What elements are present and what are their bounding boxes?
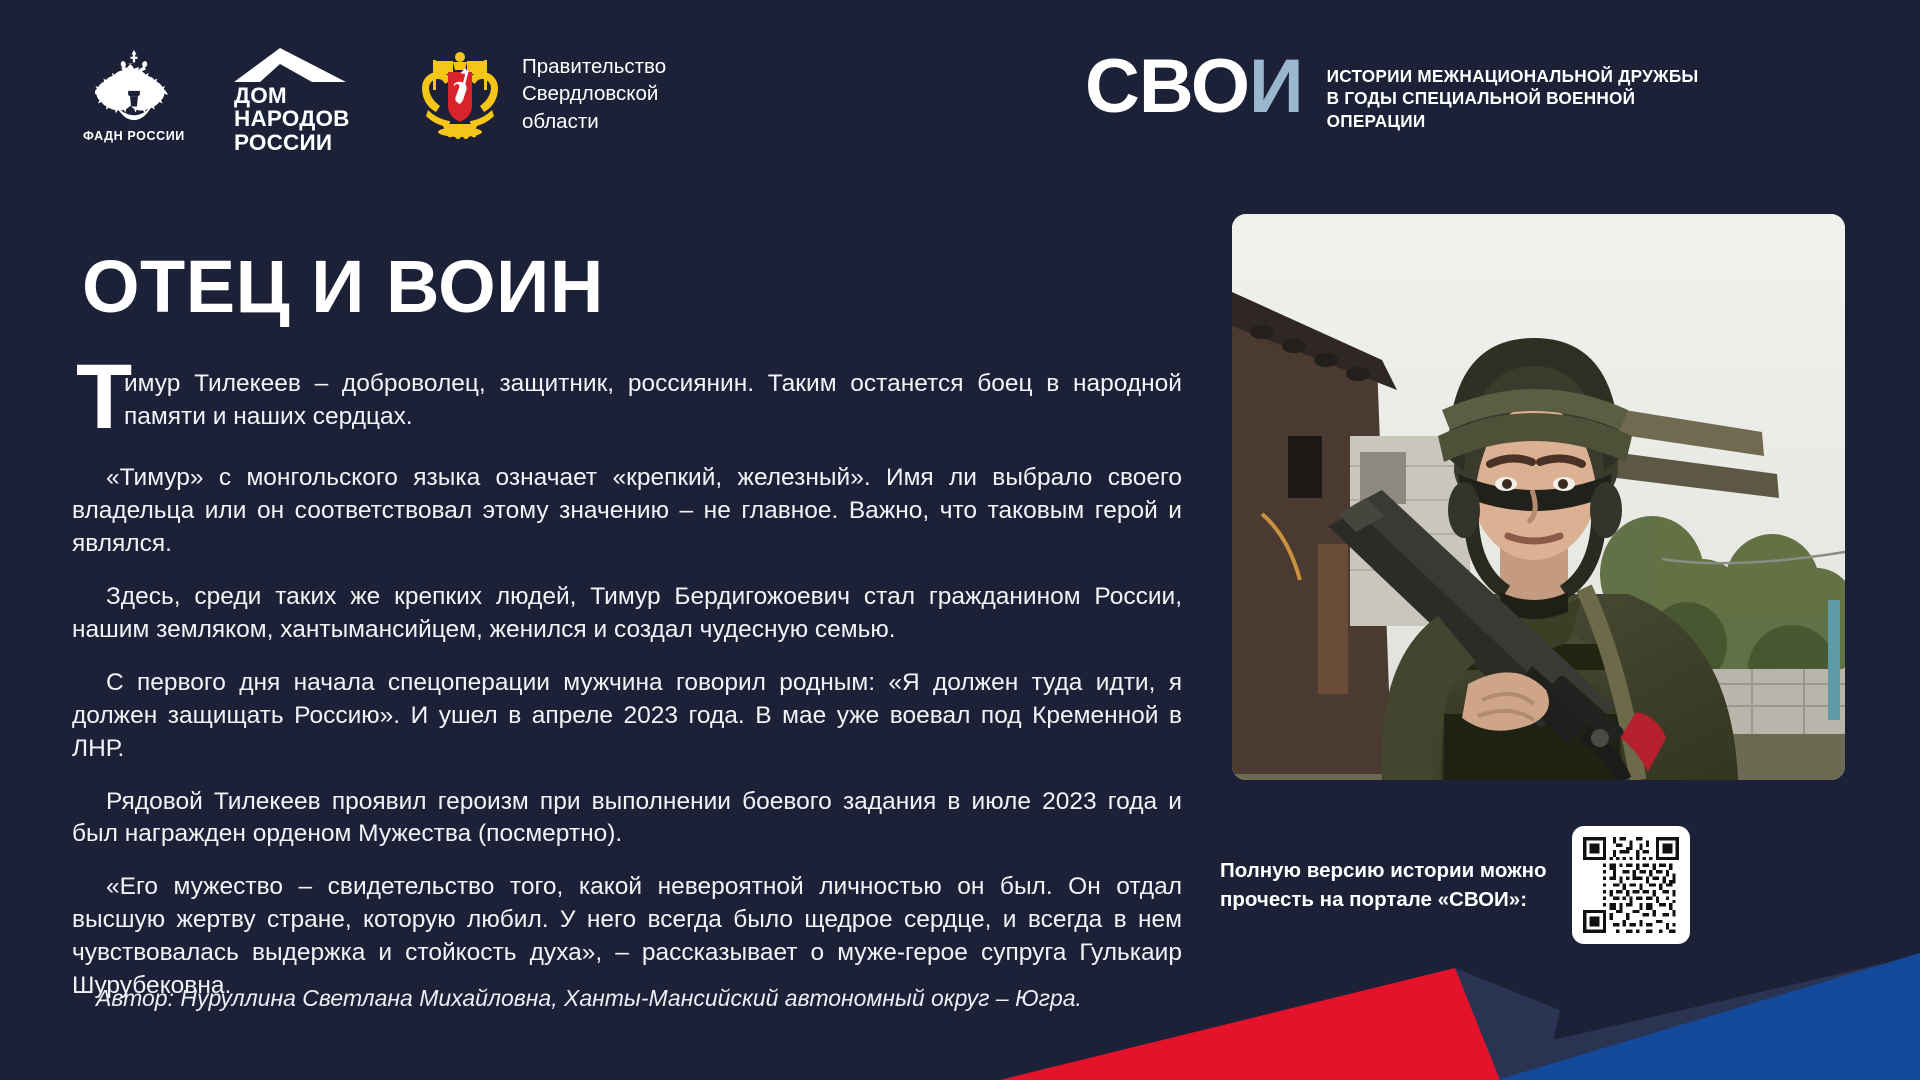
logo-sverdlovsk: Правительство Свердловской области [412, 48, 666, 140]
logo-dom-narodov: ДОМ НАРОДОВ РОССИИ [234, 48, 364, 154]
logo-dom-line3: РОССИИ [234, 131, 364, 154]
brand-tagline: ИСТОРИИ МЕЖНАЦИОНАЛЬНОЙ ДРУЖБЫ В ГОДЫ СП… [1327, 65, 1699, 132]
logo-fadn: ФАДН РОССИИ [78, 48, 190, 143]
brand-word-white: СВО [1085, 44, 1249, 129]
author-credit: Автор: Нуруллина Светлана Михайловна, Ха… [96, 985, 1216, 1012]
stripe-dark-wedge [1455, 968, 1560, 1080]
sverdlovsk-coat-of-arms-icon [412, 48, 508, 140]
qr-caption: Полную версию истории можно прочесть на … [1220, 856, 1550, 914]
header: ФАДН РОССИИ ДОМ НАРОДОВ РОССИИ [0, 0, 1920, 175]
soldier-portrait-photo [1232, 214, 1845, 780]
hero-photo-card [1232, 214, 1845, 780]
qr-code[interactable] [1572, 826, 1690, 944]
double-headed-eagle-emblem-icon [95, 48, 173, 124]
brand-word-accent: И [1249, 44, 1303, 129]
logo-dom-line1: ДОМ [234, 84, 364, 107]
story-body: Тимур Тилекеев – доброволец, защитник, р… [72, 368, 1182, 1003]
house-roof-shape-icon [234, 48, 346, 82]
drop-cap: Т [76, 360, 132, 435]
story-paragraph-text: имур Тилекеев – доброволец, защитник, ро… [124, 370, 1182, 430]
story-paragraph: «Тимур» с монгольского языка означает «к… [72, 462, 1182, 561]
logo-dom-line2: НАРОДОВ [234, 107, 364, 130]
logo-fadn-caption: ФАДН РОССИИ [83, 129, 185, 143]
logo-sverdlovsk-caption: Правительство Свердловской области [522, 53, 666, 135]
qr-block: Полную версию истории можно прочесть на … [1220, 820, 1850, 950]
story-column: ОТЕЦ И ВОИН Тимур Тилекеев – доброволец,… [72, 250, 1182, 1003]
logo-dom-text: ДОМ НАРОДОВ РОССИИ [234, 84, 364, 154]
brand-svoi: СВОИ ИСТОРИИ МЕЖНАЦИОНАЛЬНОЙ ДРУЖБЫ В ГО… [1085, 52, 1699, 132]
story-paragraph: С первого дня начала спецоперации мужчин… [72, 667, 1182, 766]
poster-root: ФАДН РОССИИ ДОМ НАРОДОВ РОССИИ [0, 0, 1920, 1080]
page-title: ОТЕЦ И ВОИН [82, 250, 1182, 324]
qr-code-icon [1583, 837, 1679, 933]
brand-wordmark: СВОИ [1085, 52, 1303, 122]
story-paragraph: «Его мужество – свидетельство того, како… [72, 871, 1182, 1003]
story-paragraph: Рядовой Тилекеев проявил героизм при вып… [72, 786, 1182, 852]
story-paragraph: Здесь, среди таких же крепких людей, Тим… [72, 581, 1182, 647]
story-paragraph: Тимур Тилекеев – доброволец, защитник, р… [72, 368, 1182, 442]
stripe-blue [1497, 953, 1920, 1080]
stripe-shadow [1380, 955, 1920, 1080]
partner-logos: ФАДН РОССИИ ДОМ НАРОДОВ РОССИИ [78, 48, 666, 154]
